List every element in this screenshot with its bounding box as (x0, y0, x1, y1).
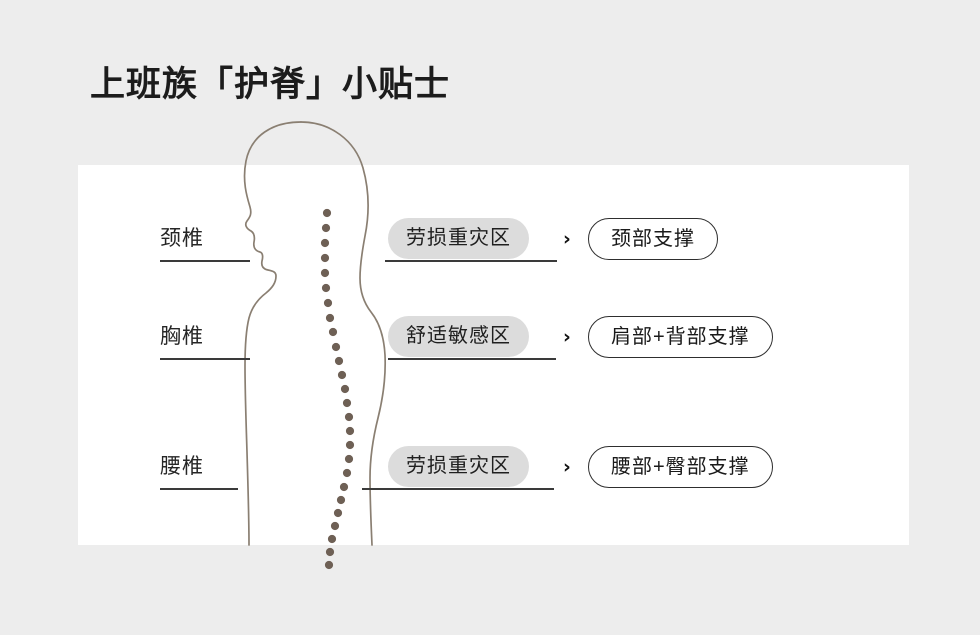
zone-underline-thoracic (388, 358, 556, 360)
chevron-right-icon-thoracic: › (563, 324, 571, 350)
part-label-thoracic: 胸椎 (160, 320, 204, 350)
part-label-lumbar: 腰椎 (160, 450, 204, 480)
support-capsule-lumbar[interactable]: 腰部+臀部支撑 (588, 446, 773, 488)
part-underline-cervical (160, 260, 250, 262)
support-capsule-thoracic[interactable]: 肩部+背部支撑 (588, 316, 773, 358)
zone-chip-thoracic[interactable]: 舒适敏感区 (388, 316, 529, 357)
support-capsule-cervical[interactable]: 颈部支撑 (588, 218, 718, 260)
zone-chip-lumbar[interactable]: 劳损重灾区 (388, 446, 529, 487)
infographic-page: 上班族「护脊」小贴士 (0, 0, 980, 635)
chevron-right-icon-lumbar: › (563, 454, 571, 480)
part-label-cervical: 颈椎 (160, 222, 204, 252)
zone-chip-cervical[interactable]: 劳损重灾区 (388, 218, 529, 259)
page-title: 上班族「护脊」小贴士 (90, 56, 450, 107)
zone-underline-cervical (385, 260, 557, 262)
part-underline-thoracic (160, 358, 250, 360)
chevron-right-icon-cervical: › (563, 226, 571, 252)
zone-underline-lumbar (362, 488, 554, 490)
part-underline-lumbar (160, 488, 238, 490)
